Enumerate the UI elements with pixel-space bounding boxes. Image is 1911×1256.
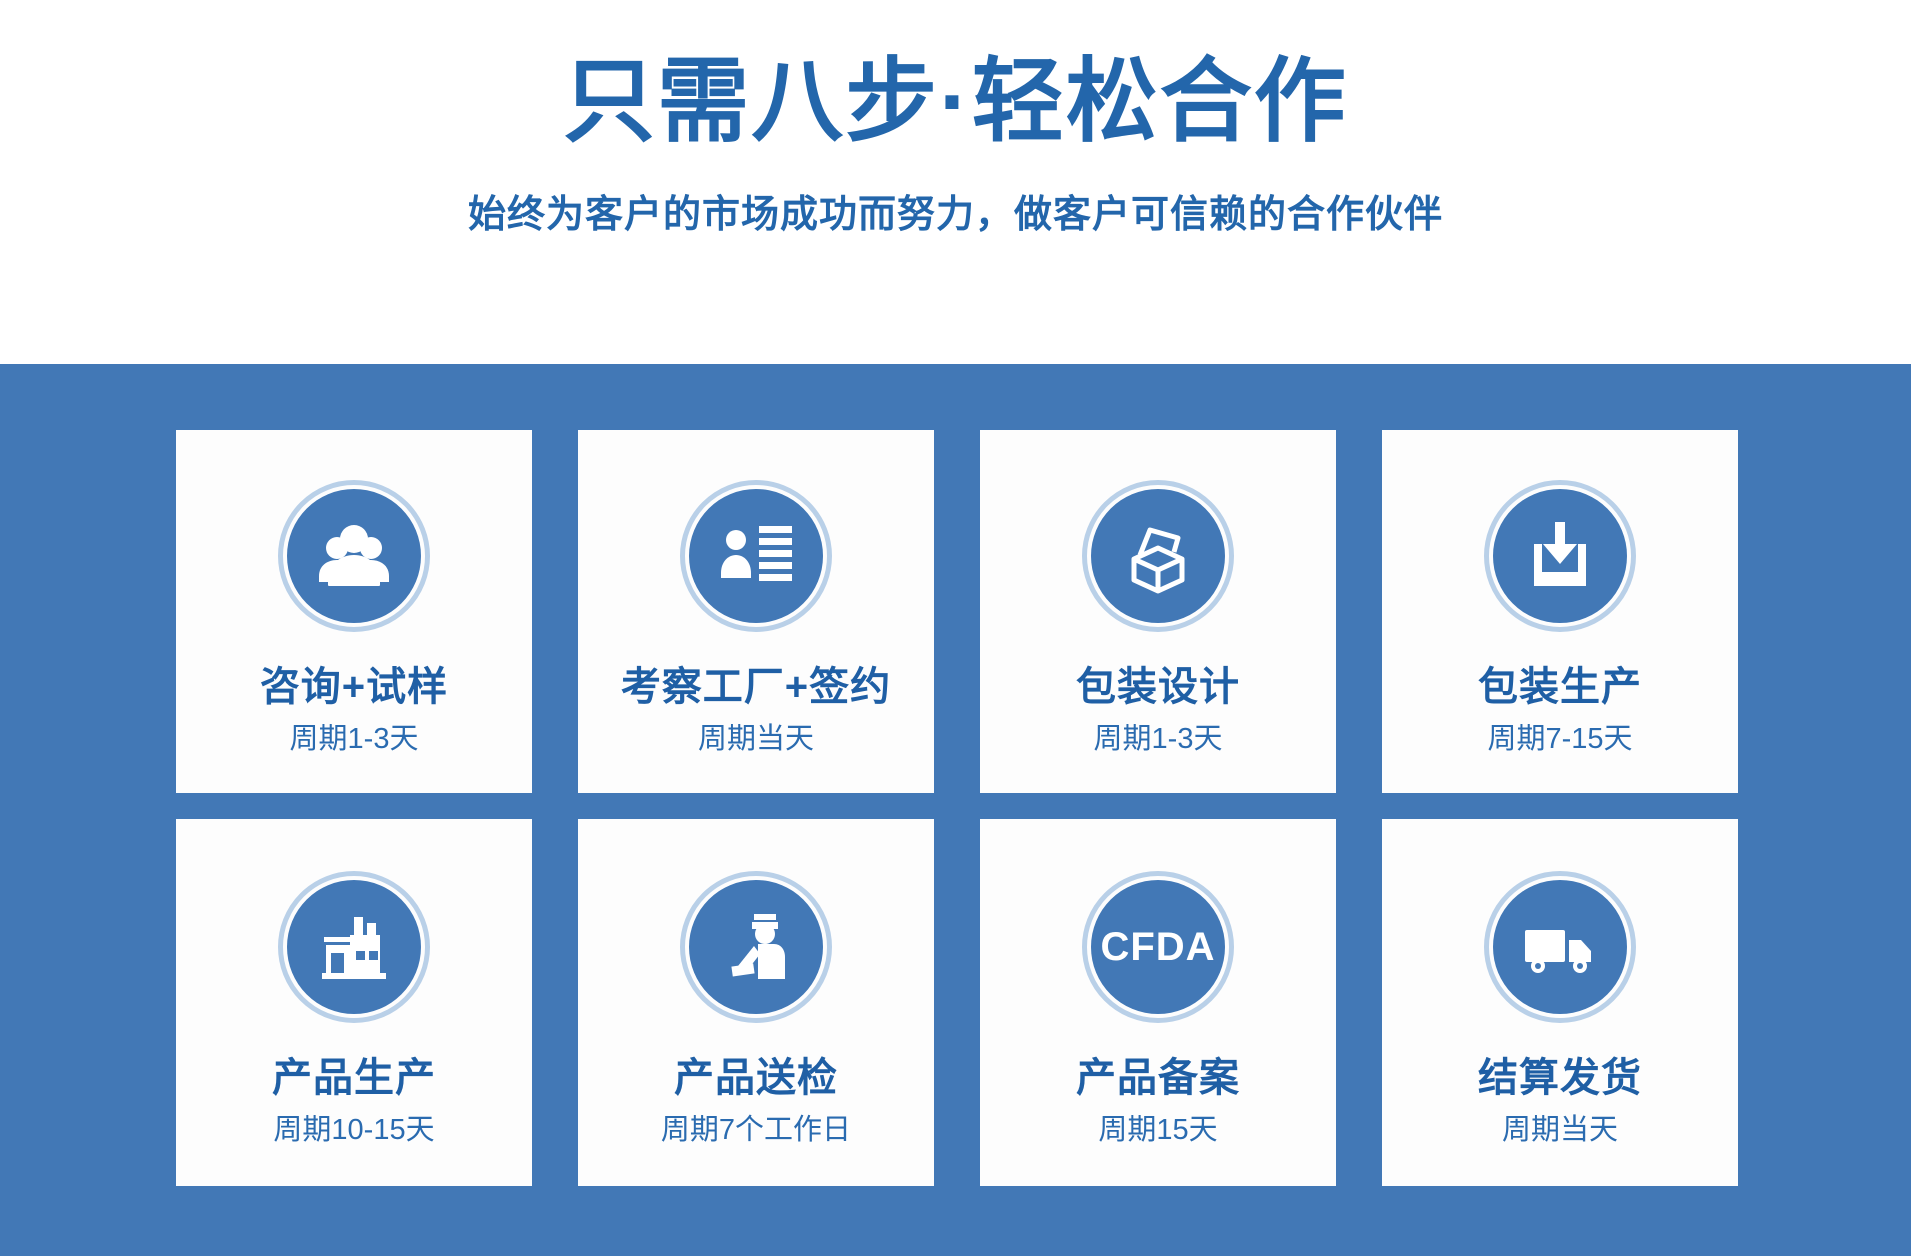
step-card-5[interactable]: 产品生产 周期10-15天: [176, 819, 532, 1186]
cfda-badge-icon: CFDA: [1082, 871, 1234, 1023]
step-card-8[interactable]: 结算发货 周期当天: [1382, 819, 1738, 1186]
inspector-icon: [680, 871, 832, 1023]
id-card-icon: [680, 480, 832, 632]
step-title: 包装设计: [1076, 664, 1240, 710]
step-duration: 周期当天: [1502, 1113, 1618, 1148]
step-title: 包装生产: [1478, 664, 1642, 710]
icon-disc: [689, 489, 823, 623]
inbox-download-icon: [1484, 480, 1636, 632]
step-title: 产品备案: [1076, 1055, 1240, 1101]
step-card-7[interactable]: CFDA 产品备案 周期15天: [980, 819, 1336, 1186]
page-subtitle: 始终为客户的市场成功而努力，做客户可信赖的合作伙伴: [468, 183, 1443, 238]
header-section: 只需八步·轻松合作 始终为客户的市场成功而努力，做客户可信赖的合作伙伴: [0, 0, 1911, 364]
step-card-3[interactable]: 包装设计 周期1-3天: [980, 430, 1336, 793]
open-box-icon: [1082, 480, 1234, 632]
step-duration: 周期7-15天: [1487, 722, 1632, 757]
step-title: 考察工厂+签约: [621, 664, 891, 710]
step-duration: 周期7个工作日: [661, 1113, 851, 1148]
page-root: 只需八步·轻松合作 始终为客户的市场成功而努力，做客户可信赖的合作伙伴: [0, 0, 1911, 1256]
step-duration: 周期当天: [698, 722, 814, 757]
icon-disc: [1493, 489, 1627, 623]
icon-disc: [689, 880, 823, 1014]
page-title: 只需八步·轻松合作: [563, 48, 1348, 157]
step-duration: 周期15天: [1098, 1113, 1217, 1148]
icon-disc: [287, 880, 421, 1014]
icon-disc: CFDA: [1091, 880, 1225, 1014]
icon-disc: [287, 489, 421, 623]
steps-grid: 咨询+试样 周期1-3天: [176, 430, 1736, 1186]
step-card-1[interactable]: 咨询+试样 周期1-3天: [176, 430, 532, 793]
icon-disc: [1091, 489, 1225, 623]
step-title: 产品生产: [272, 1055, 436, 1101]
step-card-2[interactable]: 考察工厂+签约 周期当天: [578, 430, 934, 793]
factory-icon: [278, 871, 430, 1023]
step-duration: 周期1-3天: [1094, 722, 1223, 757]
icon-disc: [1493, 880, 1627, 1014]
step-card-4[interactable]: 包装生产 周期7-15天: [1382, 430, 1738, 793]
delivery-truck-icon: [1484, 871, 1636, 1023]
step-title: 结算发货: [1478, 1055, 1642, 1101]
step-card-6[interactable]: 产品送检 周期7个工作日: [578, 819, 934, 1186]
step-title: 产品送检: [674, 1055, 838, 1101]
step-title: 咨询+试样: [260, 664, 448, 710]
steps-panel: 咨询+试样 周期1-3天: [0, 364, 1911, 1256]
step-duration: 周期10-15天: [273, 1113, 434, 1148]
users-group-icon: [278, 480, 430, 632]
step-duration: 周期1-3天: [290, 722, 419, 757]
cfda-label: CFDA: [1100, 925, 1215, 970]
